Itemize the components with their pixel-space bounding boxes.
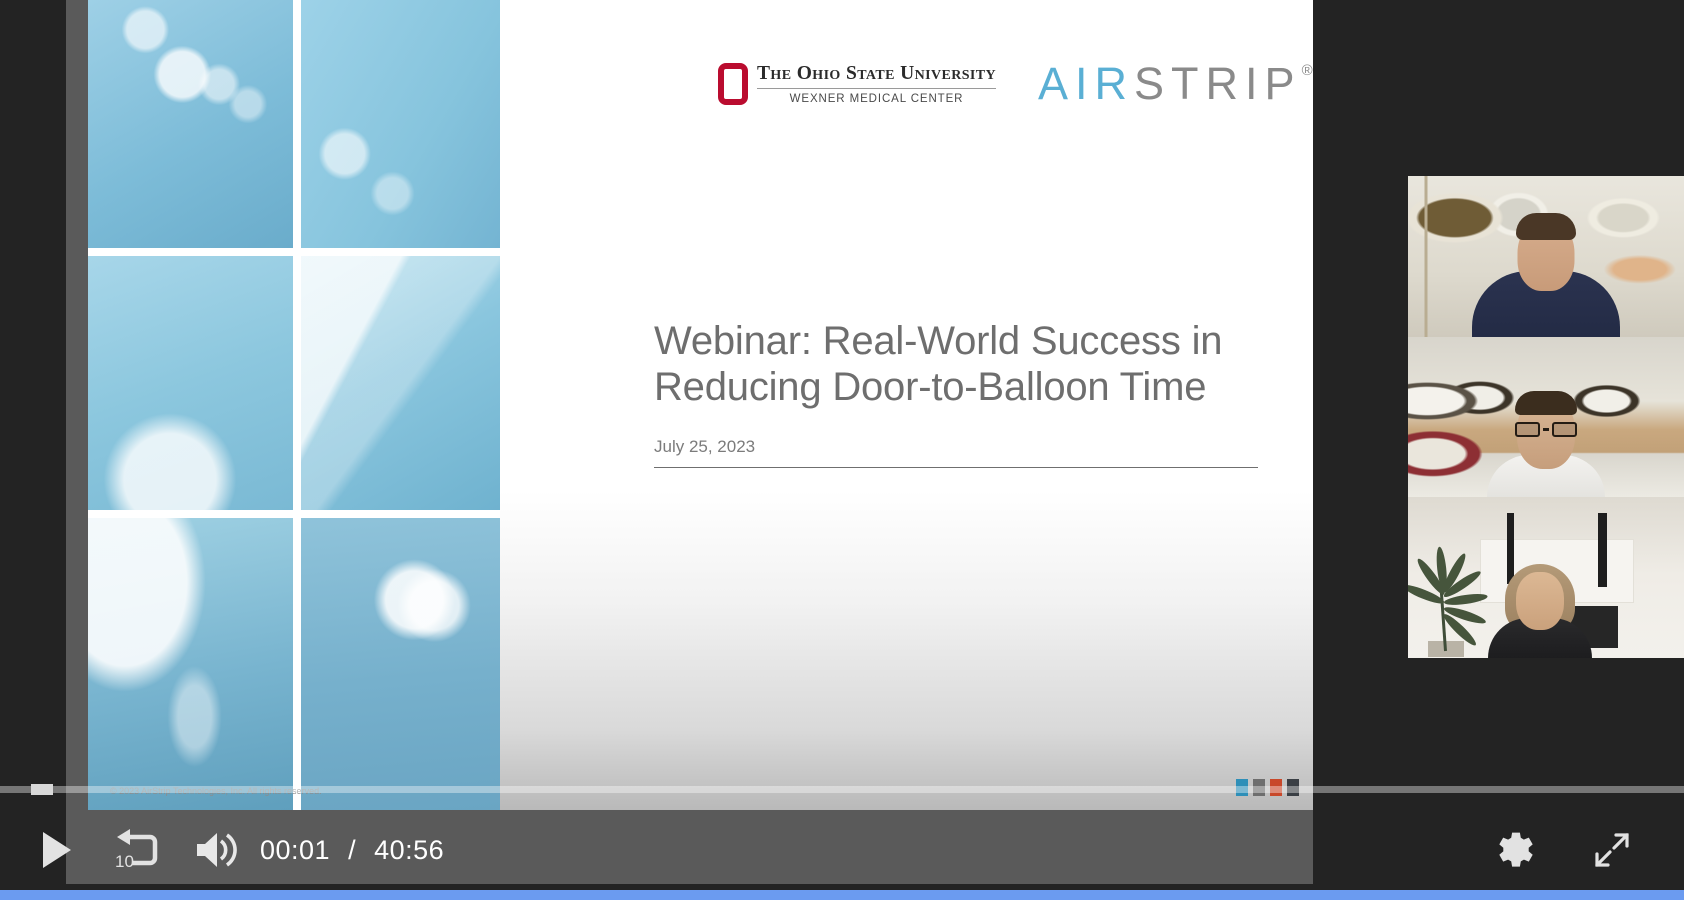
ohio-state-subtitle: WEXNER MEDICAL CENTER bbox=[757, 93, 996, 105]
glasses-lens-right bbox=[1552, 422, 1577, 437]
collage-tile-6 bbox=[301, 518, 500, 810]
ohio-state-logo: The Ohio State University WEXNER MEDICAL… bbox=[718, 63, 996, 105]
ohio-state-name: The Ohio State University bbox=[757, 63, 996, 89]
play-icon bbox=[43, 832, 71, 868]
volume-button[interactable] bbox=[190, 824, 242, 876]
slide-logo-row: The Ohio State University WEXNER MEDICAL… bbox=[718, 58, 1313, 110]
collage-tile-2 bbox=[301, 0, 500, 248]
airstrip-logo-air: AIR bbox=[1038, 58, 1134, 110]
presentation-slide: The Ohio State University WEXNER MEDICAL… bbox=[88, 0, 1313, 810]
player-left-gutter bbox=[0, 0, 66, 884]
time-display: 00:01 / 40:56 bbox=[260, 835, 444, 866]
collage-tile-4 bbox=[301, 256, 500, 510]
participant-video-tile[interactable] bbox=[1408, 497, 1684, 658]
video-background-object-right bbox=[1598, 513, 1607, 587]
participant-figure bbox=[1488, 554, 1592, 658]
focus-indicator-bar bbox=[0, 890, 1684, 900]
collage-tile-5 bbox=[88, 518, 293, 810]
slide-title-line-1: Webinar: Real-World Success in bbox=[654, 318, 1274, 364]
slide-title: Webinar: Real-World Success in Reducing … bbox=[654, 318, 1274, 411]
participant-video-tile[interactable] bbox=[1408, 176, 1684, 337]
slide-date: July 25, 2023 bbox=[654, 437, 1258, 468]
player-controls: 10 00:01 / 40:56 bbox=[0, 810, 1684, 890]
video-player[interactable]: The Ohio State University WEXNER MEDICAL… bbox=[0, 0, 1684, 900]
ohio-state-o-icon bbox=[718, 63, 748, 105]
fullscreen-button[interactable] bbox=[1590, 828, 1634, 872]
rewind-10-button[interactable]: 10 bbox=[108, 824, 164, 876]
progress-bar[interactable] bbox=[0, 786, 1684, 793]
glasses-bridge bbox=[1543, 428, 1549, 431]
progress-handle[interactable] bbox=[31, 784, 53, 795]
airstrip-trademark-icon: ® bbox=[1302, 62, 1313, 79]
gear-icon bbox=[1495, 829, 1537, 871]
participant-video-tile[interactable] bbox=[1408, 337, 1684, 498]
player-controls-right bbox=[1494, 828, 1684, 872]
participant-hair bbox=[1516, 213, 1576, 240]
participant-hair bbox=[1515, 391, 1577, 415]
slide-title-line-2: Reducing Door-to-Balloon Time bbox=[654, 364, 1274, 410]
collage-tile-1 bbox=[88, 0, 293, 248]
current-time: 00:01 bbox=[260, 835, 330, 865]
slide-image-collage bbox=[88, 0, 500, 810]
expand-arrows-icon bbox=[1591, 829, 1633, 871]
airstrip-logo-strip: STRIP bbox=[1134, 58, 1302, 110]
participant-head bbox=[1516, 572, 1564, 630]
slide-title-block: Webinar: Real-World Success in Reducing … bbox=[654, 318, 1274, 468]
time-separator: / bbox=[348, 835, 356, 865]
settings-button[interactable] bbox=[1494, 828, 1538, 872]
video-background-plant bbox=[1410, 511, 1488, 657]
player-controls-left: 10 00:01 / 40:56 bbox=[0, 824, 444, 876]
rewind-amount-label: 10 bbox=[115, 852, 134, 872]
participant-figure bbox=[1472, 217, 1620, 337]
airstrip-logo: AIR STRIP ® bbox=[1038, 58, 1313, 110]
volume-high-icon bbox=[193, 829, 239, 871]
collage-tile-3 bbox=[88, 256, 293, 510]
participant-video-panel[interactable] bbox=[1408, 176, 1684, 658]
duration: 40:56 bbox=[374, 835, 444, 865]
participant-glasses-icon bbox=[1515, 422, 1577, 437]
play-button[interactable] bbox=[34, 824, 80, 876]
participant-figure bbox=[1487, 389, 1605, 497]
glasses-lens-left bbox=[1515, 422, 1540, 437]
